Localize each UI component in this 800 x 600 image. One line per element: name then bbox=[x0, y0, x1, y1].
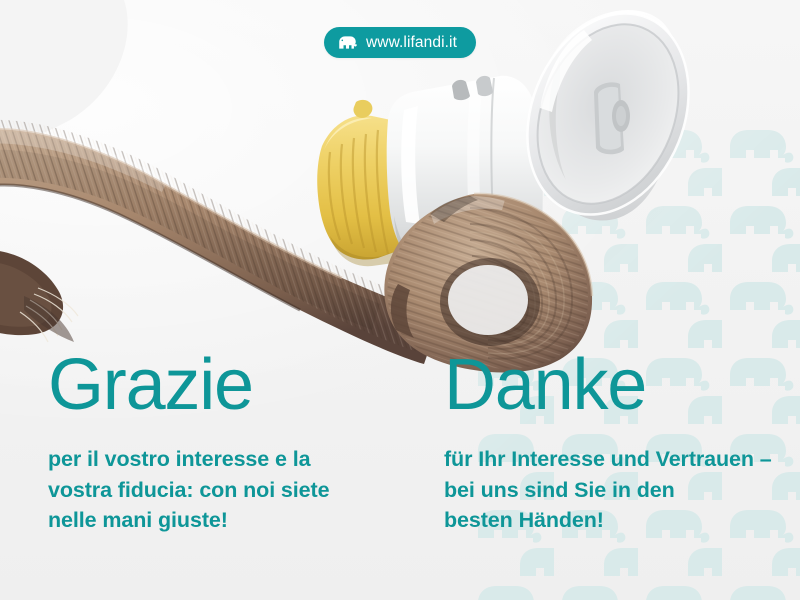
elephant-icon bbox=[338, 35, 357, 50]
body-line: per il vostro interesse e la bbox=[48, 444, 400, 475]
body-italian: per il vostro interesse e la vostra fidu… bbox=[48, 444, 400, 536]
megaphone-yellow-ring bbox=[317, 100, 400, 266]
copy-block: Grazie per il vostro interesse e la vost… bbox=[0, 352, 800, 536]
body-line: bei uns sind Sie in den bbox=[444, 475, 800, 506]
headline-german: Danke bbox=[444, 352, 800, 418]
body-line: nelle mani giuste! bbox=[48, 505, 400, 536]
column-italian: Grazie per il vostro interesse e la vost… bbox=[0, 352, 400, 536]
column-german: Danke für Ihr Interesse und Vertrauen – … bbox=[400, 352, 800, 536]
body-line: für Ihr Interesse und Vertrauen – bbox=[444, 444, 800, 475]
poster: www.lifandi.it bbox=[0, 0, 800, 600]
megaphone-body bbox=[387, 76, 543, 282]
megaphone-top-tab bbox=[452, 76, 493, 100]
body-line: besten Händen! bbox=[444, 505, 800, 536]
website-badge[interactable]: www.lifandi.it bbox=[324, 27, 476, 58]
megaphone-bell bbox=[499, 0, 718, 239]
website-url-label: www.lifandi.it bbox=[366, 35, 457, 51]
body-line: vostra fiducia: con noi siete bbox=[48, 475, 400, 506]
body-german: für Ihr Interesse und Vertrauen – bei un… bbox=[444, 444, 800, 536]
elephant-ear bbox=[0, 250, 78, 342]
headline-italian: Grazie bbox=[48, 352, 400, 418]
megaphone-siren-button bbox=[594, 82, 630, 154]
